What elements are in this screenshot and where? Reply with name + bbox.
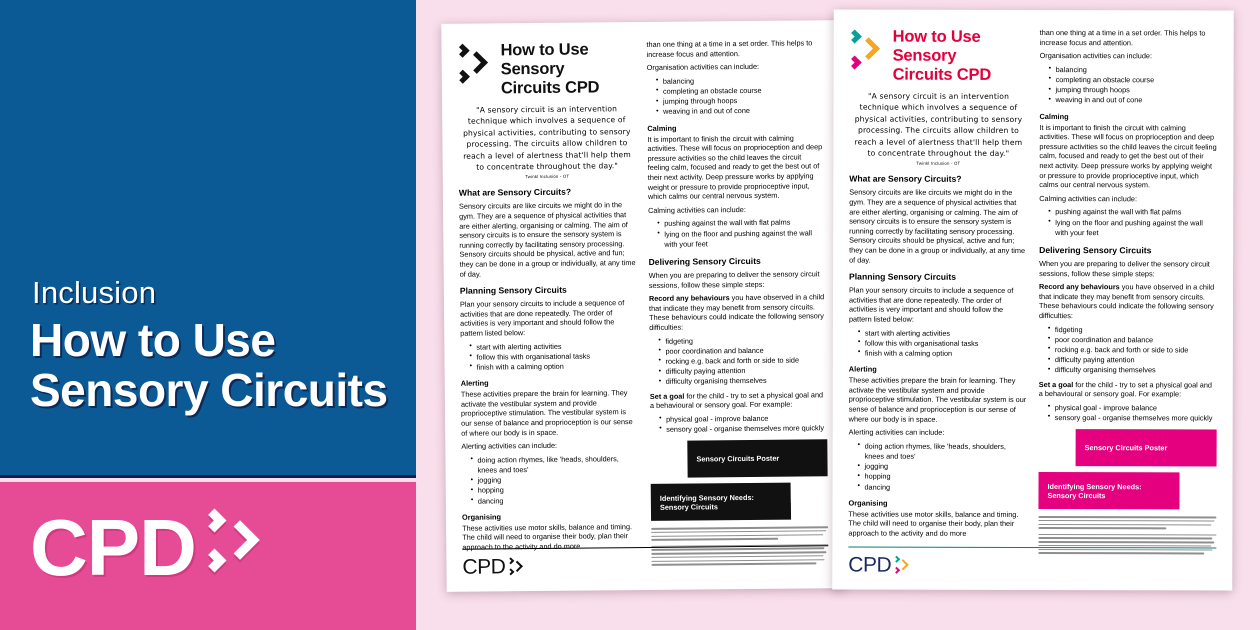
page-column-left: How to Use Sensory Circuits CPD "A senso… [848,28,1027,580]
chevron-logo-icon [206,508,268,588]
body-what-are-sensory-circuits: Sensory circuits are like circuits we mi… [459,200,637,278]
list-item: finish with a calming option [858,349,1027,360]
list-organisation-activities: balancing completing an obstacle course … [1040,65,1218,106]
list-item: pushing against the wall with flat palms [1048,207,1217,218]
promo-identifying-sensory-needs[interactable]: Identifying Sensory Needs: Sensory Circu… [651,482,828,521]
cpd-footer-text: CPD [462,556,505,577]
document-preview-page-mono[interactable]: How to Use Sensory Circuits CPD "A senso… [441,20,844,592]
promo-label[interactable]: Sensory Circuits Poster [687,439,827,477]
document-title: How to Use Sensory Circuits CPD [500,40,599,98]
brand-panel: Inclusion How to Use Sensory Circuits CP… [0,0,416,630]
body-organising-continued: than one thing at a time in a set order.… [1040,28,1218,48]
list-item: completing an obstacle course [1049,75,1218,86]
quote-attribution: Twinkl Inclusion - OT [849,161,1027,166]
list-item: physical goal - improve balance [1048,403,1217,414]
promo-label[interactable]: Identifying Sensory Needs: Sensory Circu… [651,483,791,521]
page-column-right: than one thing at a time in a set order.… [646,38,828,580]
document-title-line-1: How to Use [500,40,599,60]
list-item: sensory goal - organise themselves more … [1048,413,1217,424]
brand-eyebrow: Inclusion [32,275,156,311]
heading-planning-sensory-circuits: Planning Sensory Circuits [460,284,637,297]
list-sensory-difficulties: fidgeting poor coordination and balance … [649,335,826,388]
heading-organising: Organising [462,511,639,522]
heading-what-are-sensory-circuits: What are Sensory Circuits? [849,174,1027,185]
heading-calming: Calming [647,122,824,133]
list-planning-steps: start with alerting activities follow th… [849,328,1027,359]
list-item: weaving in and out of cone [1049,95,1218,106]
list-item: rocking e.g. back and forth or side to s… [1048,345,1217,356]
chevron-logo-icon [508,557,523,577]
list-planning-steps: start with alerting activities follow th… [460,341,637,373]
page-column-left: How to Use Sensory Circuits CPD "A senso… [457,40,639,582]
pull-quote: "A sensory circuit is an intervention te… [851,91,1025,160]
qr-code-icon[interactable] [791,482,828,519]
list-calming-activities: pushing against the wall with flat palms… [648,218,825,250]
qr-code-icon[interactable] [1179,473,1216,510]
list-item: jogging [858,462,1027,473]
brand-title-line-1: How to Use [30,315,410,365]
list-item: jumping through hoops [1049,85,1218,96]
body-delivering: When you are preparing to deliver the se… [649,269,826,290]
heading-alerting: Alerting [461,377,638,388]
list-item: finish with a calming option [470,361,638,373]
quote-attribution: Twinkl Inclusion - OT [459,174,636,181]
record-bold: Record any behaviours [649,293,730,303]
document-title-line-2: Sensory [501,59,600,79]
promo-label[interactable]: Identifying Sensory Needs: Sensory Circu… [1038,472,1179,509]
footer-divider [848,547,1216,549]
list-item: fidgeting [1048,325,1217,336]
cpd-logo-text: CPD [30,508,196,588]
body-record-behaviours: Record any behaviours you have observed … [1039,282,1217,321]
list-goals: physical goal - improve balance sensory … [650,413,827,435]
body-planning-sensory-circuits: Plan your sensory circuits to include a … [849,286,1027,325]
list-goals: physical goal - improve balance sensory … [1039,403,1217,424]
goal-bold: Set a goal [1039,380,1073,389]
list-item: difficulty organising themselves [1048,365,1217,376]
list-item: start with alerting activities [858,328,1027,339]
body-what-are-sensory-circuits: Sensory circuits are like circuits we mi… [849,188,1027,265]
chevron-logo-icon [894,555,909,575]
heading-delivering-sensory-circuits: Delivering Sensory Circuits [649,255,826,268]
lead-organisation-activities: Organisation activities can include: [647,61,824,72]
list-item: sensory goal - organise themselves more … [659,423,827,435]
list-item: poor coordination and balance [1048,335,1217,346]
qr-code-icon[interactable] [650,441,687,478]
list-item: weaving in and out of cone [656,106,824,118]
page-footer: CPD [462,535,828,578]
chevron-logo-icon [850,30,884,78]
list-item: lying on the floor and pushing against t… [1048,218,1217,239]
lead-organisation-activities: Organisation activities can include: [1040,51,1218,61]
body-calming: It is important to finish the circuit wi… [1039,123,1217,191]
page-footer: CPD [848,537,1216,577]
body-set-a-goal: Set a goal for the child - try to set a … [650,390,827,411]
lead-calming-activities: Calming activities can include: [1039,194,1217,204]
body-calming: It is important to finish the circuit wi… [647,133,825,202]
body-record-behaviours: Record any behaviours you have observed … [649,292,826,332]
list-alerting-activities: doing action rhymes, like 'heads, should… [461,454,638,507]
body-planning-sensory-circuits: Plan your sensory circuits to include a … [460,298,637,338]
heading-what-are-sensory-circuits: What are Sensory Circuits? [459,187,636,200]
document-title-line-3: Circuits CPD [501,78,600,98]
body-alerting: These activities prepare the brain for l… [849,376,1027,424]
body-organising: These activities use motor skills, balan… [848,509,1026,538]
goal-bold: Set a goal [650,391,685,400]
footer-divider [462,545,828,550]
qr-code-icon[interactable] [1039,429,1076,466]
list-item: follow this with organisational tasks [858,338,1027,349]
body-alerting: These activities prepare the brain for l… [461,388,638,438]
heading-alerting: Alerting [849,365,1027,374]
list-item: dancing [857,482,1026,493]
list-item: difficulty organising themselves [659,376,827,388]
document-header: How to Use Sensory Circuits CPD [850,28,1028,85]
chevron-logo-icon [457,43,491,91]
page-column-right: than one thing at a time in a set order.… [1038,28,1217,580]
document-preview-page-colour[interactable]: How to Use Sensory Circuits CPD "A senso… [832,9,1234,590]
list-item: hopping [858,472,1027,483]
promo-sensory-circuits-poster[interactable]: Sensory Circuits Poster [650,439,827,478]
lead-alerting-activities: Alerting activities can include: [461,440,638,451]
record-bold: Record any behaviours [1039,282,1120,291]
promo-identifying-sensory-needs[interactable]: Identifying Sensory Needs: Sensory Circu… [1038,472,1216,509]
list-organisation-activities: balancing completing an obstacle course … [647,75,824,118]
list-item: lying on the floor and pushing against t… [657,228,825,250]
cpd-footer-logo: CPD [462,553,828,578]
document-title-line-1: How to Use [893,28,992,47]
list-sensory-difficulties: fidgeting poor coordination and balance … [1039,325,1217,376]
document-title-line-2: Sensory [893,47,992,66]
pull-quote: "A sensory circuit is an intervention te… [460,103,634,173]
lead-alerting-activities: Alerting activities can include: [849,428,1027,438]
cpd-logo: CPD [30,508,268,588]
list-item: balancing [1049,65,1218,76]
document-header: How to Use Sensory Circuits CPD [457,40,635,99]
body-set-a-goal: Set a goal for the child - try to set a … [1039,380,1217,400]
body-organising-continued: than one thing at a time in a set order.… [646,38,823,59]
heading-delivering-sensory-circuits: Delivering Sensory Circuits [1039,245,1217,256]
list-item: doing action rhymes, like 'heads, should… [858,441,1027,462]
document-title-line-3: Circuits CPD [893,66,992,85]
cpd-footer-logo: CPD [848,555,1216,577]
list-alerting-activities: doing action rhymes, like 'heads, should… [848,441,1026,492]
heading-planning-sensory-circuits: Planning Sensory Circuits [849,272,1027,283]
cpd-footer-text: CPD [848,555,891,576]
list-calming-activities: pushing against the wall with flat palms… [1039,207,1217,238]
body-delivering: When you are preparing to deliver the se… [1039,259,1217,279]
list-item: difficulty paying attention [1048,355,1217,366]
document-title: How to Use Sensory Circuits CPD [893,28,992,85]
list-item: doing action rhymes, like 'heads, should… [470,454,638,476]
promo-label[interactable]: Sensory Circuits Poster [1076,429,1217,466]
heading-organising: Organising [848,498,1026,507]
brand-title-line-2: Sensory Circuits [30,365,410,415]
screenshot-root: Inclusion How to Use Sensory Circuits CP… [0,0,1260,630]
promo-sensory-circuits-poster[interactable]: Sensory Circuits Poster [1039,429,1217,466]
brand-title: How to Use Sensory Circuits [30,315,410,415]
list-item: dancing [471,495,639,507]
lead-calming-activities: Calming activities can include: [648,204,825,215]
heading-calming: Calming [1039,112,1217,121]
